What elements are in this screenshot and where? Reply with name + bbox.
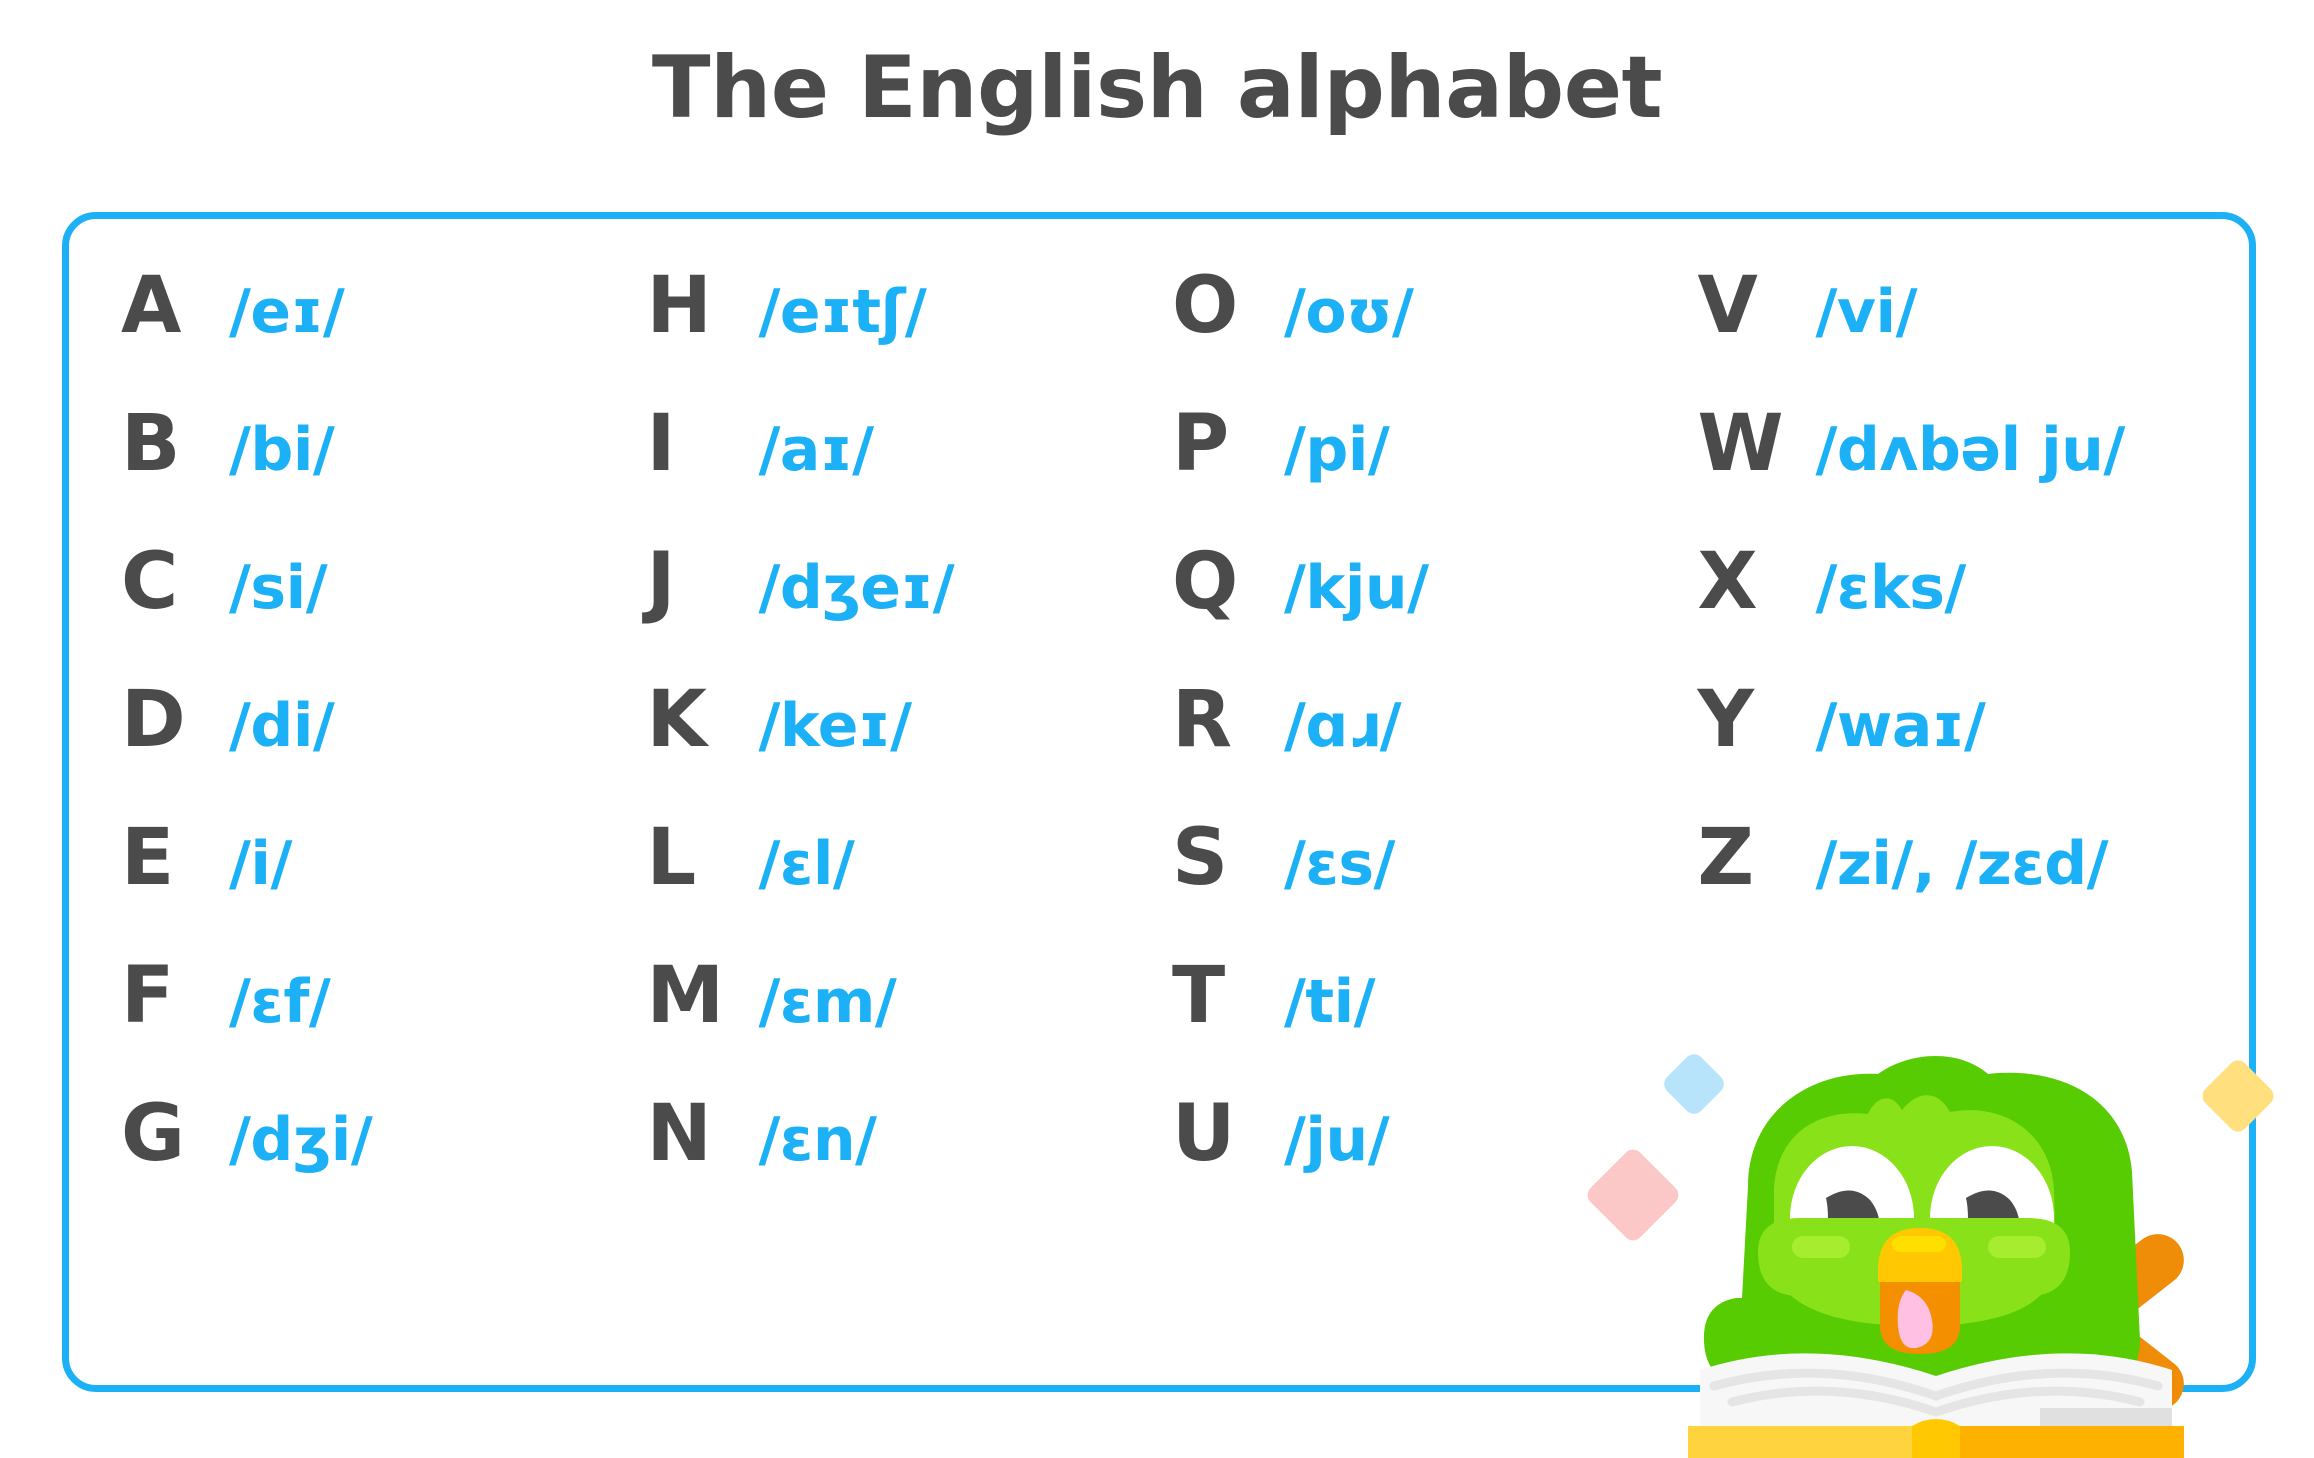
page-title: The English alphabet	[0, 38, 2314, 138]
duo-cheek-shine-right	[1988, 1236, 2046, 1258]
book-cover-right	[1936, 1426, 2184, 1458]
phonetic-f: /ɛf/	[229, 972, 330, 1032]
book-cover-left	[1688, 1426, 1936, 1458]
letter-j: J	[647, 543, 759, 621]
letter-i: I	[647, 405, 759, 483]
letter-d: D	[121, 681, 229, 759]
alphabet-row: Y /waɪ/	[1698, 681, 2224, 819]
alphabet-row: M /ɛm/	[647, 957, 1173, 1095]
phonetic-k: /keɪ/	[759, 696, 912, 756]
alphabet-column-2: H /eɪtʃ/ I /aɪ/ J /dʒeɪ/ K /keɪ/ L /ɛl	[647, 267, 1173, 1345]
phonetic-b: /bi/	[229, 420, 334, 480]
letter-c: C	[121, 543, 229, 621]
alphabet-row: E /i/	[121, 819, 647, 957]
phonetic-x: /ɛks/	[1816, 558, 1966, 618]
alphabet-row: G /dʒi/	[121, 1095, 647, 1233]
phonetic-h: /eɪtʃ/	[759, 282, 927, 342]
phonetic-w: /dʌbəl ju/	[1816, 420, 2125, 480]
letter-g: G	[121, 1095, 229, 1173]
letter-s: S	[1172, 819, 1284, 897]
alphabet-row: S /ɛs/	[1172, 819, 1698, 957]
alphabet-row: V /vi/	[1698, 267, 2224, 405]
alphabet-row: D /di/	[121, 681, 647, 819]
phonetic-m: /ɛm/	[759, 972, 897, 1032]
alphabet-row: O /oʊ/	[1172, 267, 1698, 405]
phonetic-g: /dʒi/	[229, 1110, 372, 1170]
letter-y: Y	[1698, 681, 1816, 759]
letter-f: F	[121, 957, 229, 1035]
alphabet-row: N /ɛn/	[647, 1095, 1173, 1233]
phonetic-o: /oʊ/	[1284, 282, 1413, 342]
alphabet-poster: The English alphabet A /eɪ/ B /bi/ C /si…	[0, 0, 2314, 1458]
letter-p: P	[1172, 405, 1284, 483]
phonetic-u: /ju/	[1284, 1110, 1389, 1170]
letter-t: T	[1172, 957, 1284, 1035]
alphabet-column-1: A /eɪ/ B /bi/ C /si/ D /di/ E /i/	[121, 267, 647, 1345]
phonetic-q: /kju/	[1284, 558, 1429, 618]
letter-a: A	[121, 267, 229, 345]
duo-beak-shine	[1892, 1236, 1946, 1252]
letter-k: K	[647, 681, 759, 759]
phonetic-y: /waɪ/	[1816, 696, 1986, 756]
letter-w: W	[1698, 405, 1816, 483]
book-spine	[1912, 1419, 1960, 1458]
alphabet-row: B /bi/	[121, 405, 647, 543]
letter-u: U	[1172, 1095, 1284, 1173]
letter-e: E	[121, 819, 229, 897]
alphabet-row: L /ɛl/	[647, 819, 1173, 957]
alphabet-row: Q /kju/	[1172, 543, 1698, 681]
letter-l: L	[647, 819, 759, 897]
phonetic-z: /zi/, /zɛd/	[1816, 834, 2109, 894]
letter-o: O	[1172, 267, 1284, 345]
letter-v: V	[1698, 267, 1816, 345]
phonetic-j: /dʒeɪ/	[759, 558, 955, 618]
phonetic-s: /ɛs/	[1284, 834, 1395, 894]
duo-owl-mascot-icon	[1640, 1040, 2314, 1458]
letter-m: M	[647, 957, 759, 1035]
alphabet-row: T /ti/	[1172, 957, 1698, 1095]
phonetic-v: /vi/	[1816, 282, 1918, 342]
duo-cheek-shine-left	[1792, 1236, 1850, 1258]
phonetic-t: /ti/	[1284, 972, 1375, 1032]
alphabet-row: A /eɪ/	[121, 267, 647, 405]
letter-x: X	[1698, 543, 1816, 621]
phonetic-e: /i/	[229, 834, 292, 894]
alphabet-row: Z /zi/, /zɛd/	[1698, 819, 2224, 957]
letter-r: R	[1172, 681, 1284, 759]
letter-q: Q	[1172, 543, 1284, 621]
phonetic-i: /aɪ/	[759, 420, 874, 480]
letter-z: Z	[1698, 819, 1816, 897]
alphabet-row: R /ɑɹ/	[1172, 681, 1698, 819]
letter-h: H	[647, 267, 759, 345]
phonetic-p: /pi/	[1284, 420, 1389, 480]
phonetic-a: /eɪ/	[229, 282, 344, 342]
alphabet-row: X /ɛks/	[1698, 543, 2224, 681]
phonetic-n: /ɛn/	[759, 1110, 877, 1170]
alphabet-row: K /keɪ/	[647, 681, 1173, 819]
letter-n: N	[647, 1095, 759, 1173]
alphabet-row: W /dʌbəl ju/	[1698, 405, 2224, 543]
alphabet-row: F /ɛf/	[121, 957, 647, 1095]
alphabet-row: J /dʒeɪ/	[647, 543, 1173, 681]
phonetic-c: /si/	[229, 558, 327, 618]
alphabet-row: I /aɪ/	[647, 405, 1173, 543]
alphabet-row: P /pi/	[1172, 405, 1698, 543]
phonetic-l: /ɛl/	[759, 834, 855, 894]
phonetic-d: /di/	[229, 696, 334, 756]
alphabet-row: H /eɪtʃ/	[647, 267, 1173, 405]
phonetic-r: /ɑɹ/	[1284, 696, 1401, 756]
alphabet-row: C /si/	[121, 543, 647, 681]
letter-b: B	[121, 405, 229, 483]
